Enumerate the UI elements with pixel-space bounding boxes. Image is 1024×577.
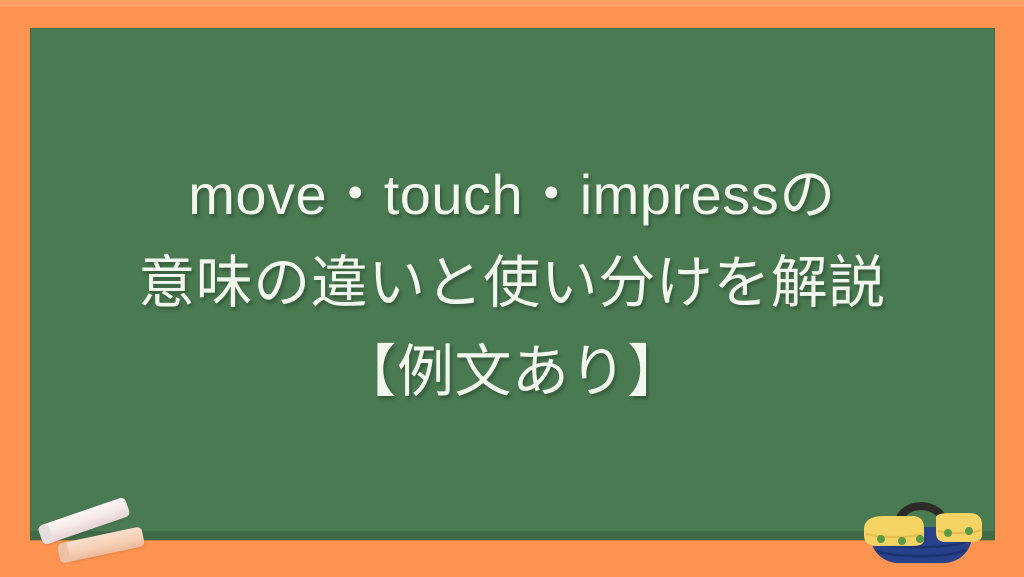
basket-stud-3	[916, 535, 924, 543]
picnic-basket-illustration	[850, 487, 988, 569]
basket-lid-left	[864, 516, 924, 546]
picnic-basket-icon	[850, 487, 988, 569]
chalk-sticks-illustration	[30, 493, 165, 573]
basket-stud-5	[965, 527, 973, 535]
chalkboard-panel	[30, 28, 995, 540]
basket-stud-2	[898, 537, 906, 545]
frame-top-highlight	[0, 0, 1024, 7]
basket-lid-right	[936, 513, 982, 542]
basket-stud-4	[944, 529, 952, 537]
thumbnail-canvas: move・touch・impressの 意味の違いと使い分けを解説 【例文あり】	[0, 0, 1024, 577]
basket-stud-1	[877, 535, 885, 543]
